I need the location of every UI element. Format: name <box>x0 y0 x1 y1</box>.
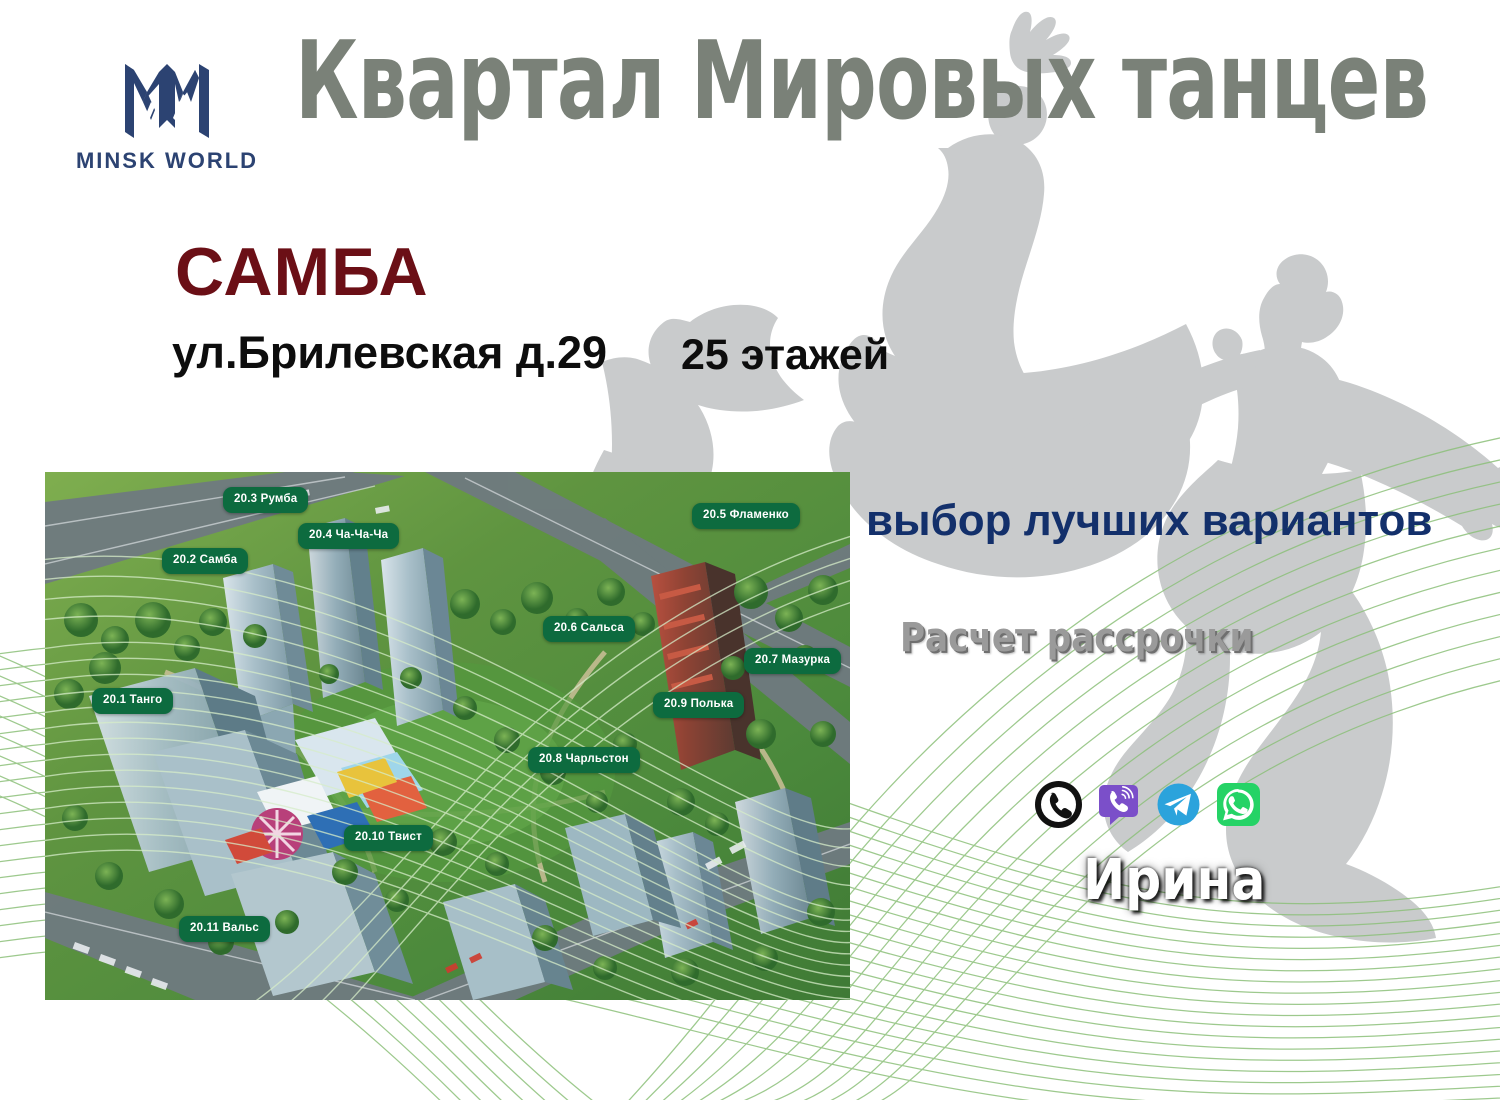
poster-canvas: MINSK WORLD Квартал Мировых танцев САМБА… <box>0 0 1500 1100</box>
male-dancer-silhouette-icon <box>1001 254 1500 942</box>
masterplan-label[interactable]: 20.10 Твист <box>344 825 433 851</box>
contact-icons-row <box>1035 781 1262 828</box>
masterplan-label[interactable]: 20.4 Ча-Ча-Ча <box>298 523 399 549</box>
building-name: САМБА <box>175 238 429 306</box>
masterplan-label[interactable]: 20.9 Полька <box>653 692 744 718</box>
masterplan-label[interactable]: 20.5 Фламенко <box>692 503 800 529</box>
brand-logo[interactable]: MINSK WORLD <box>72 58 262 174</box>
mw-monogram-icon <box>121 58 213 142</box>
masterplan-label[interactable]: 20.8 Чарльстон <box>528 747 640 773</box>
logo-wordmark: MINSK WORLD <box>72 148 262 174</box>
viber-icon[interactable] <box>1095 781 1142 828</box>
best-options-text: выбор лучших вариантов <box>866 499 1432 543</box>
masterplan-label[interactable]: 20.2 Самба <box>162 548 248 574</box>
masterplan-label[interactable]: 20.7 Мазурка <box>744 648 841 674</box>
masterplan-label[interactable]: 20.3 Румба <box>223 487 308 513</box>
masterplan-label[interactable]: 20.11 Вальс <box>179 916 270 942</box>
masterplan-image[interactable]: 20.3 Румба 20.4 Ча-Ча-Ча 20.5 Фламенко 2… <box>45 472 850 1000</box>
page-title: Квартал Мировых танцев <box>295 28 1428 136</box>
manager-name: Ирина <box>1083 853 1265 909</box>
phone-icon[interactable] <box>1035 781 1082 828</box>
masterplan-label[interactable]: 20.6 Сальса <box>543 616 635 642</box>
installment-text: Расчет рассрочки <box>900 618 1253 658</box>
floors-count: 25 этажей <box>681 334 889 377</box>
masterplan-label[interactable]: 20.1 Танго <box>92 688 173 714</box>
building-address: ул.Брилевская д.29 <box>172 330 607 375</box>
telegram-icon[interactable] <box>1155 781 1202 828</box>
whatsapp-icon[interactable] <box>1215 781 1262 828</box>
